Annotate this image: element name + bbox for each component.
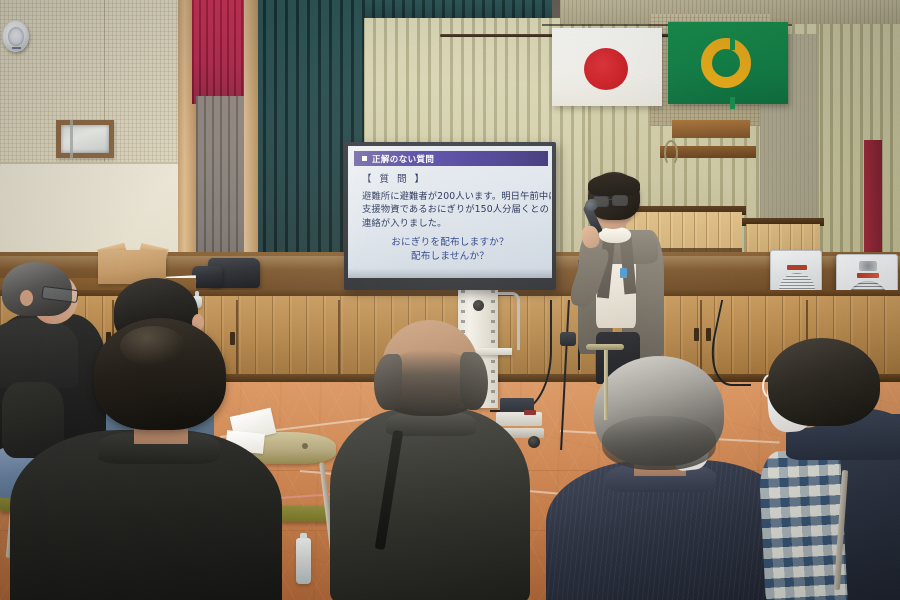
audience-member-foreground-black [8,318,288,600]
slide-body-line-2: 支援物資であるおにぎりが150人分届くとの [362,203,542,216]
pa-indicator-panel [857,273,879,278]
water-bottle[interactable] [296,538,311,584]
slide-body-line-1: 避難所に避難者が200人います。明日午前中に [362,190,542,203]
pa-brand-badge [859,261,877,271]
audience-hair-dark-gray [768,338,880,426]
mic-stand-pole [604,350,608,420]
presentation-display: 正解のない質問 【 質 問 】 避難所に避難者が200人います。明日午前中に 支… [344,142,556,290]
eyeglasses-bridge [608,199,613,200]
stage-rear-beam-upper [672,120,750,138]
audience-member-plaid-masked [768,338,900,600]
slide-title-bar: 正解のない質問 [354,151,548,166]
slide-question-2: 配布しませんか？ [348,250,552,264]
cart-hole [473,300,484,311]
eyeglasses-icon [612,195,628,206]
audience-hair-side [460,352,488,410]
amplifier-label [787,265,807,270]
presenter-badge [620,268,627,278]
slide-screen: 正解のない質問 【 質 問 】 避難所に避難者が200人います。明日午前中に 支… [348,146,552,278]
japanese-flag [552,28,662,106]
hair-highlight [120,326,186,366]
hinomaru-disc-icon [584,48,628,90]
mic-stand-arm [586,344,624,350]
audience-hair-side [374,354,402,410]
stage-door-handle[interactable] [706,328,711,341]
gymnasium-meeting-photo: 正解のない質問 【 質 問 】 避難所に避難者が200人います。明日午前中に 支… [0,0,900,600]
audience-member-center-dark-jacket [332,320,528,600]
audience-ear [20,290,33,306]
gray-blackout-curtain [196,96,248,274]
red-curtain-right-edge [864,140,882,270]
slide-question-block: おにぎりを配布しますか？ 配布しませんか？ [348,236,552,264]
slide-question-1: おにぎりを配布しますか？ [348,236,552,250]
ring-emblem-icon [701,38,751,88]
wooden-pillar-right [244,0,258,290]
slide-body-line-3: 連絡が入りました。 [362,217,542,230]
clock-hands [12,47,21,49]
dark-jacket-torso [330,408,530,600]
rope-hook [664,140,678,166]
audience-hair-nape [602,416,716,470]
mic-stand-clip [560,332,576,346]
municipal-green-flag [668,22,788,104]
slide-body: 【 質 問 】 避難所に避難者が200人います。明日午前中に 支援物資であるおに… [362,171,542,230]
cart-caster [528,436,540,448]
chair-vent-hole [302,443,308,449]
presenter-collar [599,227,631,243]
small-wall-window [56,120,114,158]
stage-door-handle[interactable] [694,328,699,341]
wall-clock [2,20,29,52]
presenter-fringe [588,174,640,196]
red-curtain [192,0,250,104]
slide-title: 正解のない質問 [372,153,434,165]
square-bullet-icon [362,156,367,161]
slide-question-label: 【 質 問 】 [362,171,542,185]
screen-bottom-shading [348,268,552,278]
